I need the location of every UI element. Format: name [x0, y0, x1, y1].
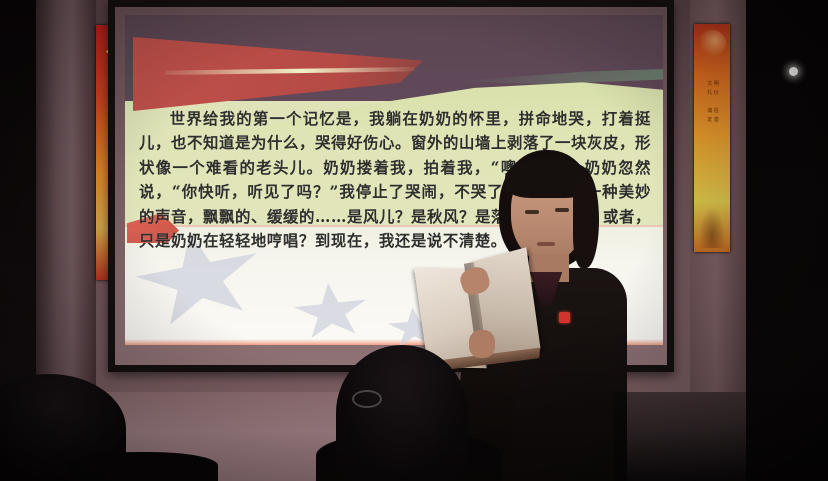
presenter-hand-lower: [469, 330, 495, 358]
classroom-scene: ☭ 文 明礼 仪诚 信友 善 世界给我的第一个记忆是: [0, 0, 828, 481]
poster-swirl-decor: [698, 30, 726, 56]
audience-left-shoulders: [68, 452, 218, 481]
presenter-party-badge: [559, 312, 570, 323]
wall-pillar-left: [36, 0, 96, 400]
audience-center-head: [336, 345, 468, 481]
presenter-eye-left: [525, 210, 539, 214]
audience-right-foreground: [614, 392, 828, 481]
glasses-icon: [352, 390, 382, 408]
presenter-hair-side: [573, 172, 599, 268]
presenter-eye-right: [555, 208, 569, 212]
right-culture-poster: 文 明礼 仪诚 信友 善: [694, 24, 730, 252]
poster-vase-art: [699, 208, 725, 248]
poster-vertical-text: 文 明礼 仪诚 信友 善: [703, 80, 723, 200]
ceiling-light-icon: [789, 67, 798, 76]
presenter-mouth: [537, 242, 555, 246]
